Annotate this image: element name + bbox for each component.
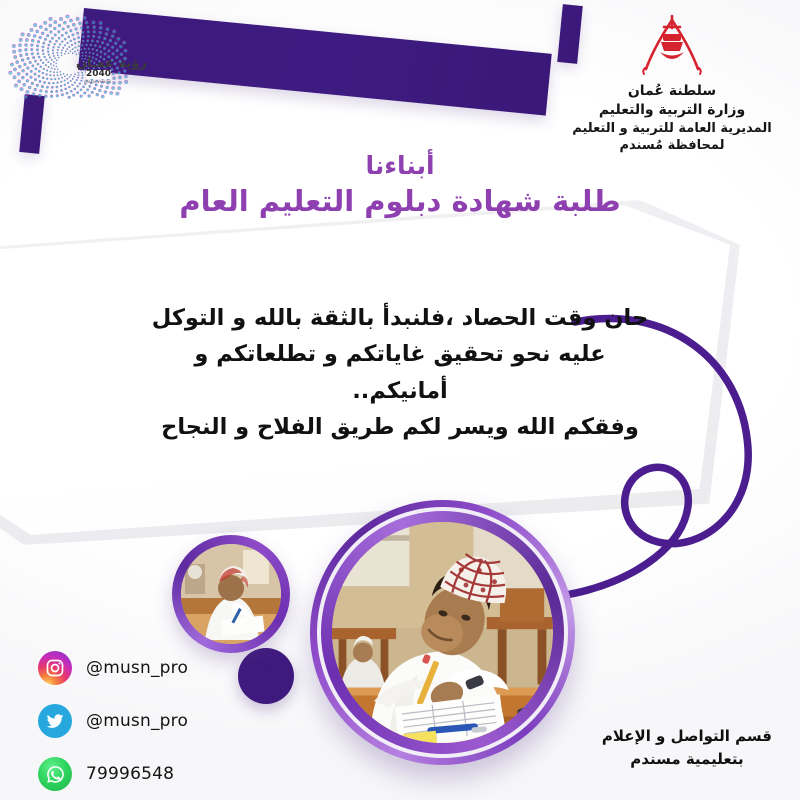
student-writing-small-photo: [172, 535, 290, 653]
social-row-whatsapp[interactable]: 79996548: [38, 751, 188, 797]
vision-subtitle: OMAN VISION: [84, 80, 111, 84]
twitter-handle[interactable]: @musn_pro: [86, 711, 188, 731]
whatsapp-number[interactable]: 79996548: [86, 764, 174, 784]
student-writing-exam-photo: [310, 500, 575, 765]
twitter-icon[interactable]: [38, 704, 72, 738]
emblem-line-country: سلطنة عُمان: [562, 82, 782, 101]
footer-line-2: بتعليمية مسندم: [602, 748, 772, 771]
message-line-3: أمانيكم..: [80, 373, 720, 409]
banner-bar: [78, 8, 552, 116]
footer-department: قسم التواصل و الإعلام بتعليمية مسندم: [602, 725, 772, 770]
emblem-line-ministry: وزارة التربية والتعليم: [562, 101, 782, 120]
message-line-2: عليه نحو تحقيق غاياتكم و تطلعاتكم و: [80, 336, 720, 372]
message-line-1: حان وقت الحصاد ،فلنبدأ بالثقة بالله و ال…: [80, 300, 720, 336]
social-row-instagram[interactable]: @musn_pro: [38, 645, 188, 691]
poster-canvas: رؤية عمـان 2040 OMAN VISION سلطنة عُمان …: [0, 0, 800, 800]
whatsapp-icon[interactable]: [38, 757, 72, 791]
oman-vision-2040-logo: رؤية عمـان 2040 OMAN VISION: [8, 2, 138, 102]
instagram-handle[interactable]: @musn_pro: [86, 658, 188, 678]
banner-cap-left: [19, 94, 45, 154]
khanjar-crossed-swords-icon: [633, 12, 711, 76]
social-row-twitter[interactable]: @musn_pro: [38, 698, 188, 744]
small-photo-image: [181, 544, 281, 644]
message-line-4: وفقكم الله ويسر لكم طريق الفلاح و النجاح: [80, 409, 720, 445]
heading-diploma-students: طلبة شهادة دبلوم التعليم العام: [0, 183, 800, 221]
vision-year: 2040: [86, 70, 111, 79]
ministry-emblem: سلطنة عُمان وزارة التربية والتعليم المدي…: [562, 12, 782, 155]
message-text: حان وقت الحصاد ،فلنبدأ بالثقة بالله و ال…: [80, 300, 720, 446]
main-photo-image: [332, 522, 553, 743]
decorative-purple-dot: [238, 648, 294, 704]
footer-line-1: قسم التواصل و الإعلام: [602, 725, 772, 748]
poster-headings: أبناءنا طلبة شهادة دبلوم التعليم العام: [0, 150, 800, 221]
social-links: @musn_pro @musn_pro 79996548: [38, 645, 188, 800]
emblem-line-directorate: المديرية العامة للتربية و التعليم: [562, 120, 782, 138]
instagram-icon[interactable]: [38, 651, 72, 685]
heading-our-children: أبناءنا: [0, 150, 800, 181]
